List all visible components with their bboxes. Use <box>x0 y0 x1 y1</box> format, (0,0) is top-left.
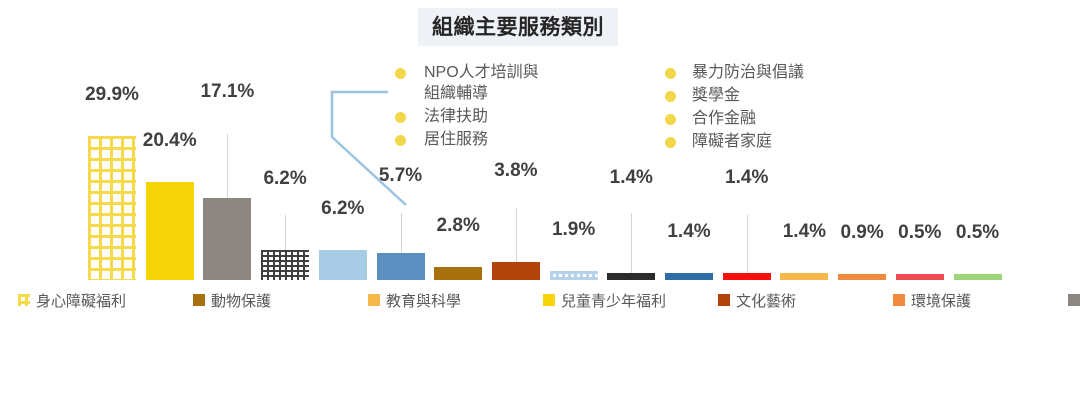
bar[interactable] <box>319 250 367 280</box>
label-leader-line <box>227 134 228 198</box>
bar-value-label: 1.4% <box>783 221 826 243</box>
bar-value-label: 6.2% <box>321 198 364 220</box>
legend-swatch-icon <box>893 294 905 306</box>
page-title: 組織主要服務類別 <box>418 8 618 46</box>
legend-item-label: 動物保護 <box>211 290 271 311</box>
label-leader-line <box>631 213 632 273</box>
bar[interactable] <box>550 271 598 280</box>
bar[interactable] <box>896 274 944 280</box>
bar-group[interactable]: 17.1% <box>203 60 251 280</box>
bar[interactable] <box>377 253 425 280</box>
bar-group[interactable]: 1.4% <box>607 60 655 280</box>
chart-canvas: 組織主要服務類別 NPO人才培訓與 組織輔導法律扶助居住服務 暴力防治與倡議獎學… <box>0 0 1080 416</box>
bar-group[interactable]: 5.7% <box>377 60 425 280</box>
legend-item[interactable]: 身心障礙福利 <box>18 288 193 312</box>
legend-item[interactable]: 文化藝術 <box>718 288 893 312</box>
bar[interactable] <box>780 273 828 280</box>
legend-item[interactable]: 環境保護 <box>893 288 1068 312</box>
bar-value-label: 0.5% <box>898 222 941 244</box>
legend-item[interactable]: 教育與科學 <box>368 288 543 312</box>
bar-value-label: 0.5% <box>956 222 999 244</box>
bar-value-label: 3.8% <box>494 160 537 182</box>
legend-swatch-icon <box>1068 294 1080 306</box>
bar[interactable] <box>203 198 251 280</box>
bar-group[interactable]: 0.5% <box>954 60 1002 280</box>
legend-item-label: 環境保護 <box>911 290 971 311</box>
bar-value-label: 17.1% <box>200 81 254 103</box>
bar-group[interactable]: 1.4% <box>780 60 828 280</box>
label-leader-line <box>401 213 402 253</box>
legend-item-label: 身心障礙福利 <box>36 290 126 311</box>
bar-group[interactable]: 3.8% <box>492 60 540 280</box>
bar[interactable] <box>88 136 136 280</box>
bar-value-label: 5.7% <box>379 165 422 187</box>
legend-item[interactable]: 綜合性服務 <box>1068 288 1080 312</box>
legend-item-label: 兒童青少年福利 <box>561 290 666 311</box>
legend-item-label: 文化藝術 <box>736 290 796 311</box>
legend-swatch-icon <box>543 294 555 306</box>
bar[interactable] <box>954 274 1002 280</box>
bar-group[interactable]: 1.4% <box>723 60 771 280</box>
bar-value-label: 1.9% <box>552 219 595 241</box>
label-leader-line <box>285 215 286 250</box>
bars-area: 29.9%20.4%17.1%6.2%6.2%5.7%2.8%3.8%1.9%1… <box>0 60 1080 280</box>
bar-group[interactable]: 1.4% <box>665 60 713 280</box>
legend-swatch-icon <box>18 294 30 306</box>
legend-swatch-icon <box>193 294 205 306</box>
bar-value-label: 1.4% <box>610 167 653 189</box>
bar-value-label: 0.9% <box>840 222 883 244</box>
bar[interactable] <box>665 273 713 280</box>
legend-swatch-icon <box>368 294 380 306</box>
bar[interactable] <box>261 250 309 280</box>
bar-value-label: 1.4% <box>667 221 710 243</box>
bar-value-label: 1.4% <box>725 167 768 189</box>
bar-group[interactable]: 0.5% <box>896 60 944 280</box>
bar[interactable] <box>723 273 771 280</box>
bar[interactable] <box>434 267 482 280</box>
bar-group[interactable]: 20.4% <box>146 60 194 280</box>
legend-item[interactable]: 動物保護 <box>193 288 368 312</box>
legend-item-label: 教育與科學 <box>386 290 461 311</box>
legend-item[interactable]: 兒童青少年福利 <box>543 288 718 312</box>
bar-value-label: 29.9% <box>85 84 139 106</box>
bar-value-label: 6.2% <box>263 168 306 190</box>
bar[interactable] <box>492 262 540 280</box>
bar[interactable] <box>838 274 886 280</box>
label-leader-line <box>747 215 748 273</box>
bar[interactable] <box>607 273 655 280</box>
legend: 身心障礙福利動物保護教育與科學兒童青少年福利文化藝術環境保護綜合性服務家庭福利人… <box>18 288 1068 312</box>
bar-group[interactable]: 2.8% <box>434 60 482 280</box>
bar-group[interactable]: 6.2% <box>261 60 309 280</box>
label-leader-line <box>516 208 517 262</box>
bar-group[interactable]: 29.9% <box>88 60 136 280</box>
bar[interactable] <box>146 182 194 280</box>
bar-group[interactable]: 1.9% <box>550 60 598 280</box>
bar-group[interactable]: 6.2% <box>319 60 367 280</box>
bar-value-label: 2.8% <box>437 215 480 237</box>
bar-value-label: 20.4% <box>143 130 197 152</box>
bar-group[interactable]: 0.9% <box>838 60 886 280</box>
legend-swatch-icon <box>718 294 730 306</box>
